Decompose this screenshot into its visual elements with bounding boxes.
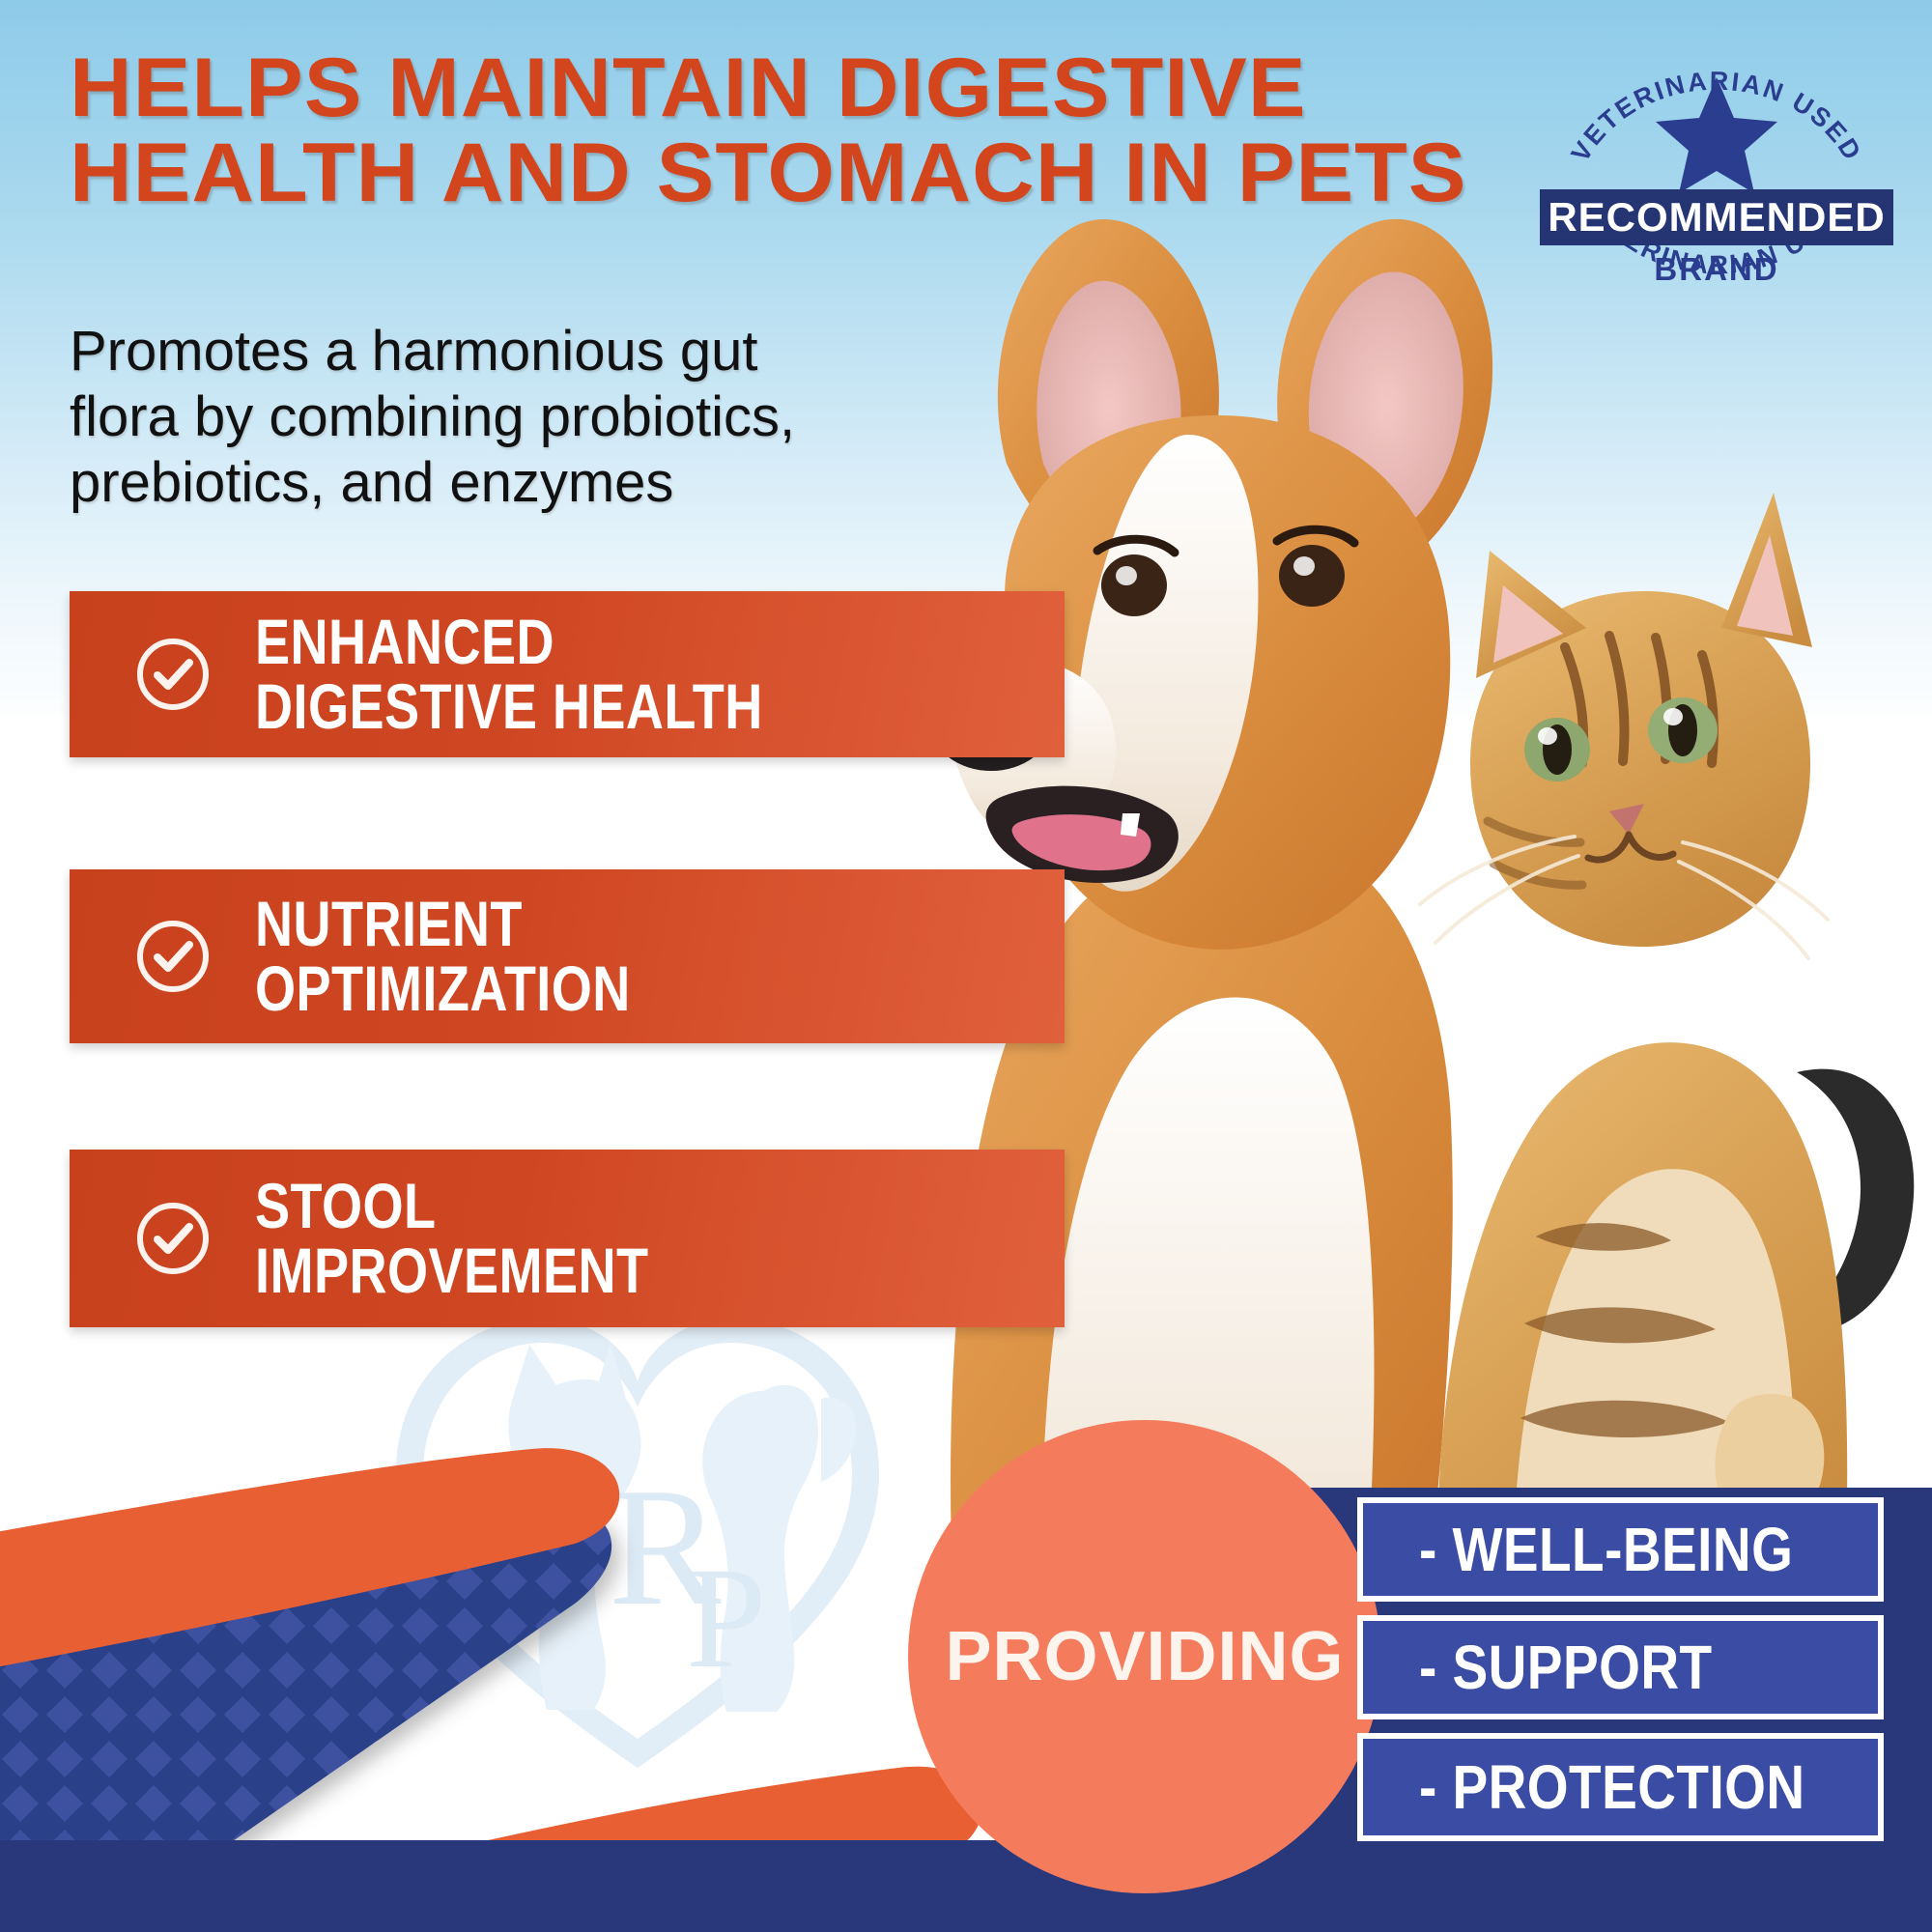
feature-bar-stool-improvement[interactable]: STOOL IMPROVEMENT xyxy=(70,1150,1065,1327)
cat-eye-right xyxy=(1648,697,1718,763)
cat-bengal-kitten xyxy=(1420,493,1914,1652)
headline-line-1: HELPS MAINTAIN DIGESTIVE xyxy=(70,46,1275,131)
feature-bar-nutrient-optimization[interactable]: NUTRIENT OPTIMIZATION xyxy=(70,869,1065,1043)
benefit-box-support[interactable]: - SUPPORT xyxy=(1357,1615,1884,1719)
badge-banner-text: RECOMMENDED xyxy=(1548,194,1885,240)
subheading-line-1: Promotes a harmonious gut xyxy=(70,319,958,384)
feature-bar-enhanced-digestive-health[interactable]: ENHANCED DIGESTIVE HEALTH xyxy=(70,591,1065,757)
feature-line-1: ENHANCED xyxy=(255,606,554,677)
feature-bar-label: NUTRIENT OPTIMIZATION xyxy=(255,892,631,1022)
feature-bar-label: STOOL IMPROVEMENT xyxy=(255,1174,648,1304)
subheading: Promotes a harmonious gut flora by combi… xyxy=(70,319,958,516)
infographic-canvas: R P xyxy=(0,0,1932,1932)
cat-eye-left xyxy=(1524,718,1590,781)
subheading-line-2: flora by combining probiotics, xyxy=(70,384,958,450)
feature-bar-label: ENHANCED DIGESTIVE HEALTH xyxy=(255,610,763,740)
benefit-label: - WELL-BEING xyxy=(1419,1519,1793,1580)
feature-line-2: DIGESTIVE HEALTH xyxy=(255,674,763,739)
check-circle-icon xyxy=(133,635,213,714)
feature-line-2: IMPROVEMENT xyxy=(255,1238,648,1303)
badge-sub-text: BRAND xyxy=(1654,251,1778,287)
veterinarian-recommended-badge: VETERINARIAN USED VETERINARIAN USED RECO… xyxy=(1538,37,1895,298)
benefit-box-well-being[interactable]: - WELL-BEING xyxy=(1357,1497,1884,1602)
check-circle-icon xyxy=(133,917,213,996)
feature-line-1: STOOL xyxy=(255,1170,436,1241)
benefit-box-protection[interactable]: - PROTECTION xyxy=(1357,1733,1884,1841)
benefit-label: - SUPPORT xyxy=(1419,1636,1713,1698)
navy-footer-strip xyxy=(0,1840,1932,1932)
headline-line-2: HEALTH AND STOMACH IN PETS xyxy=(70,131,1275,216)
providing-label: PROVIDING xyxy=(945,1617,1344,1696)
page-title: HELPS MAINTAIN DIGESTIVE HEALTH AND STOM… xyxy=(70,46,1275,215)
feature-line-2: OPTIMIZATION xyxy=(255,956,631,1021)
benefit-label: - PROTECTION xyxy=(1419,1756,1805,1818)
providing-circle: PROVIDING xyxy=(908,1420,1381,1893)
feature-line-1: NUTRIENT xyxy=(255,888,523,959)
subheading-line-3: prebiotics, and enzymes xyxy=(70,450,958,516)
check-circle-icon xyxy=(133,1199,213,1278)
